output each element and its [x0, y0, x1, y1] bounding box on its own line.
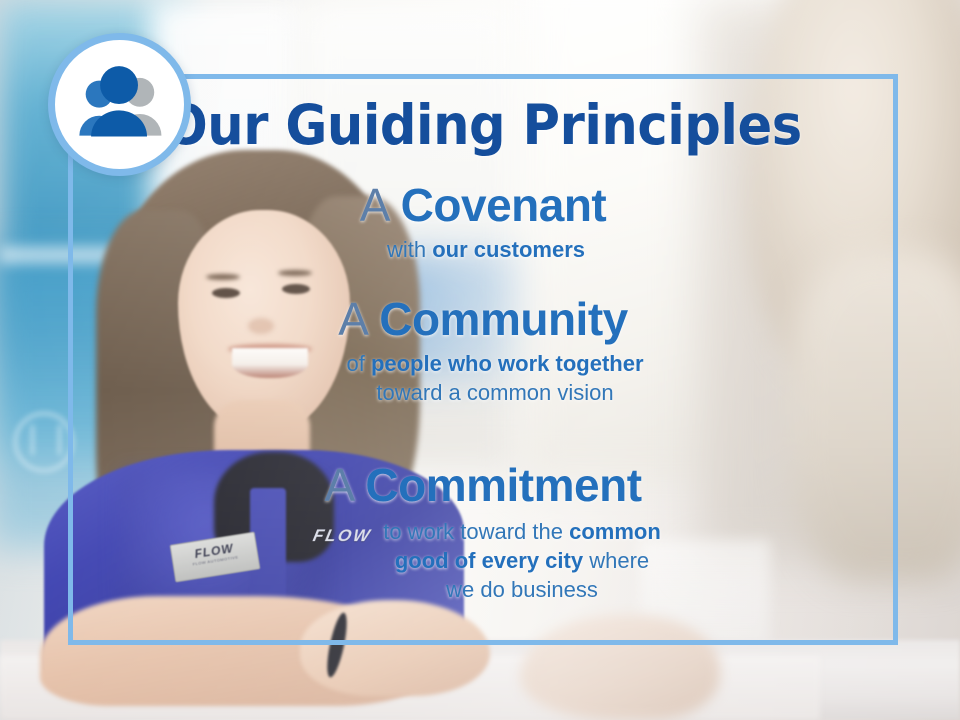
- subtext-segment: with: [387, 237, 432, 262]
- principle-block-commitment: A Commitment to work toward the common g…: [68, 462, 898, 604]
- subtext-segment-bold: our customers: [432, 237, 585, 262]
- text-content: Our Guiding Principles A Covenant with o…: [68, 74, 898, 645]
- guiding-principles-graphic: FLOW FLOW FLOW AUTOMOTIVE Our Guiding Pr…: [0, 0, 960, 720]
- principle-headline-covenant: A Covenant: [68, 182, 898, 229]
- page-title: Our Guiding Principles: [97, 98, 869, 153]
- subtext-segment-bold: good of every city: [395, 548, 583, 573]
- principle-article: A: [324, 459, 352, 511]
- subtext-segment-bold: people who work together: [371, 351, 644, 376]
- people-group-icon: [55, 40, 184, 169]
- principle-subtext-commitment: to work toward the common good of every …: [68, 517, 898, 604]
- principle-keyword: Community: [379, 293, 628, 345]
- subtext-segment: we do business: [446, 577, 598, 602]
- principle-headline-commitment: A Commitment: [68, 462, 898, 509]
- people-icon-badge: [48, 33, 191, 176]
- principle-block-community: A Community of people who work together …: [68, 296, 898, 407]
- subtext-segment: toward a common vision: [376, 380, 613, 405]
- subtext-segment: of: [346, 351, 370, 376]
- principle-block-covenant: A Covenant with our customers: [68, 182, 898, 264]
- principle-article: A: [360, 179, 388, 231]
- principle-keyword: Covenant: [401, 179, 607, 231]
- principle-headline-community: A Community: [68, 296, 898, 343]
- principle-subtext-covenant: with our customers: [68, 235, 898, 264]
- subtext-segment-bold: common: [569, 519, 661, 544]
- subtext-segment: where: [583, 548, 649, 573]
- subtext-segment: to work toward the: [383, 519, 569, 544]
- principle-article: A: [338, 293, 366, 345]
- principle-keyword: Commitment: [365, 459, 641, 511]
- principle-subtext-community: of people who work together toward a com…: [68, 349, 898, 407]
